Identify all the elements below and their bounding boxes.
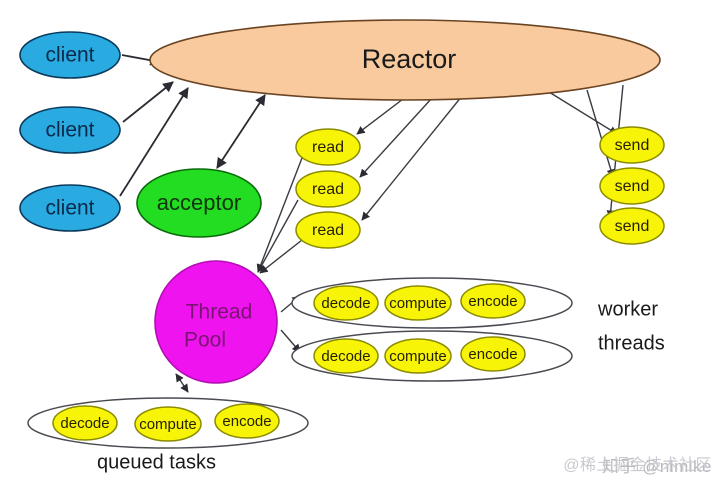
edge-read2-threadpool (258, 200, 298, 272)
read-3-ellipse[interactable] (296, 212, 360, 248)
node-read-1[interactable]: read (296, 129, 360, 165)
send-3-ellipse[interactable] (600, 208, 664, 244)
worker-row-1-stage-decode[interactable]: decode (314, 286, 378, 320)
worker-threads-caption-line2: threads (598, 332, 665, 354)
node-send-2[interactable]: send (600, 168, 664, 204)
worker-row-1-stage-compute[interactable]: compute (385, 286, 451, 320)
queued-task-decode-ellipse[interactable] (53, 406, 117, 440)
worker-row-2-stage-compute[interactable]: compute (385, 339, 451, 373)
send-2-ellipse[interactable] (600, 168, 664, 204)
edge-reactor-read1 (357, 99, 403, 134)
queued-task-encode-ellipse[interactable] (215, 404, 279, 438)
node-reactor[interactable]: Reactor (150, 20, 660, 100)
reactor-pattern-diagram: Reactor client client client acceptor re… (0, 0, 720, 489)
worker-row-1-decode-ellipse[interactable] (314, 286, 378, 320)
reactor-ellipse[interactable] (150, 20, 660, 100)
worker-row-2-encode-ellipse[interactable] (461, 337, 525, 371)
node-client-1[interactable]: client (20, 32, 120, 78)
client-1-ellipse[interactable] (20, 32, 120, 78)
edge-reactor-read2 (360, 98, 432, 177)
watermark-secondary-text: @稀土掘金技术社区 (563, 451, 712, 475)
worker-row-2-decode-ellipse[interactable] (314, 339, 378, 373)
watermark: 知乎 @nimike @稀土掘金技术社区 (602, 452, 712, 477)
acceptor-ellipse[interactable] (137, 169, 261, 237)
worker-row-2-stages: decode compute encode (314, 337, 525, 373)
node-client-2[interactable]: client (20, 107, 120, 153)
node-read-3[interactable]: read (296, 212, 360, 248)
read-1-ellipse[interactable] (296, 129, 360, 165)
edge-reactor-send1 (549, 92, 617, 134)
worker-row-2-compute-ellipse[interactable] (385, 339, 451, 373)
node-send-1[interactable]: send (600, 127, 664, 163)
edge-client2-reactor (123, 82, 173, 122)
thread-pool-circle[interactable] (155, 261, 277, 383)
queued-tasks-stages: decode compute encode (53, 404, 279, 441)
edge-threadpool-queued-tasks (176, 374, 188, 392)
worker-row-1-stages: decode compute encode (314, 284, 525, 320)
worker-row-2-stage-decode[interactable]: decode (314, 339, 378, 373)
queued-task-decode[interactable]: decode (53, 406, 117, 440)
queued-task-compute-ellipse[interactable] (135, 407, 201, 441)
read-2-ellipse[interactable] (296, 171, 360, 207)
worker-threads-caption-line1: worker (597, 298, 658, 320)
queued-tasks-caption: queued tasks (97, 451, 216, 473)
send-1-ellipse[interactable] (600, 127, 664, 163)
edge-read1-threadpool (258, 158, 302, 272)
worker-row-1-encode-ellipse[interactable] (461, 284, 525, 318)
worker-row-1-compute-ellipse[interactable] (385, 286, 451, 320)
client-3-ellipse[interactable] (20, 185, 120, 231)
diagram-canvas: Reactor client client client acceptor re… (0, 0, 720, 489)
node-thread-pool[interactable]: Thread Pool (155, 261, 277, 383)
client-2-ellipse[interactable] (20, 107, 120, 153)
node-acceptor[interactable]: acceptor (137, 169, 261, 237)
worker-row-2-stage-encode[interactable]: encode (461, 337, 525, 371)
queued-task-compute[interactable]: compute (135, 407, 201, 441)
edge-acceptor-reactor (217, 95, 265, 168)
node-client-3[interactable]: client (20, 185, 120, 231)
node-send-3[interactable]: send (600, 208, 664, 244)
node-read-2[interactable]: read (296, 171, 360, 207)
worker-row-1-stage-encode[interactable]: encode (461, 284, 525, 318)
queued-task-encode[interactable]: encode (215, 404, 279, 438)
